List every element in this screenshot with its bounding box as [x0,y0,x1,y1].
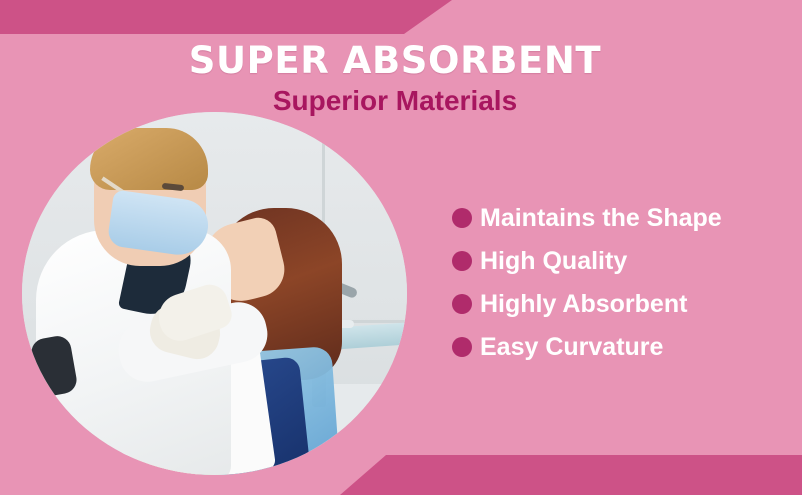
page-subtitle: Superior Materials [0,84,790,118]
bullet-dot-icon [452,294,472,314]
list-item-label: Maintains the Shape [480,204,722,232]
list-item-label: Easy Curvature [480,333,663,361]
bottom-accent-band [340,455,802,495]
bullet-dot-icon [452,251,472,271]
list-item: Highly Absorbent [452,282,788,325]
promo-banner: SUPER ABSORBENT Superior Materials Maint… [0,0,802,495]
list-item-label: High Quality [480,247,627,275]
dentist-examining-patient-photo [22,112,407,475]
list-item-label: Highly Absorbent [480,290,687,318]
list-item: High Quality [452,239,788,282]
bullet-dot-icon [452,208,472,228]
top-accent-band [0,0,452,34]
bullet-dot-icon [452,337,472,357]
heading-block: SUPER ABSORBENT Superior Materials [0,40,802,118]
list-item: Easy Curvature [452,325,788,368]
clinic-scene [22,112,407,475]
page-title: SUPER ABSORBENT [0,40,790,82]
benefits-list: Maintains the Shape High Quality Highly … [452,196,788,368]
list-item: Maintains the Shape [452,196,788,239]
